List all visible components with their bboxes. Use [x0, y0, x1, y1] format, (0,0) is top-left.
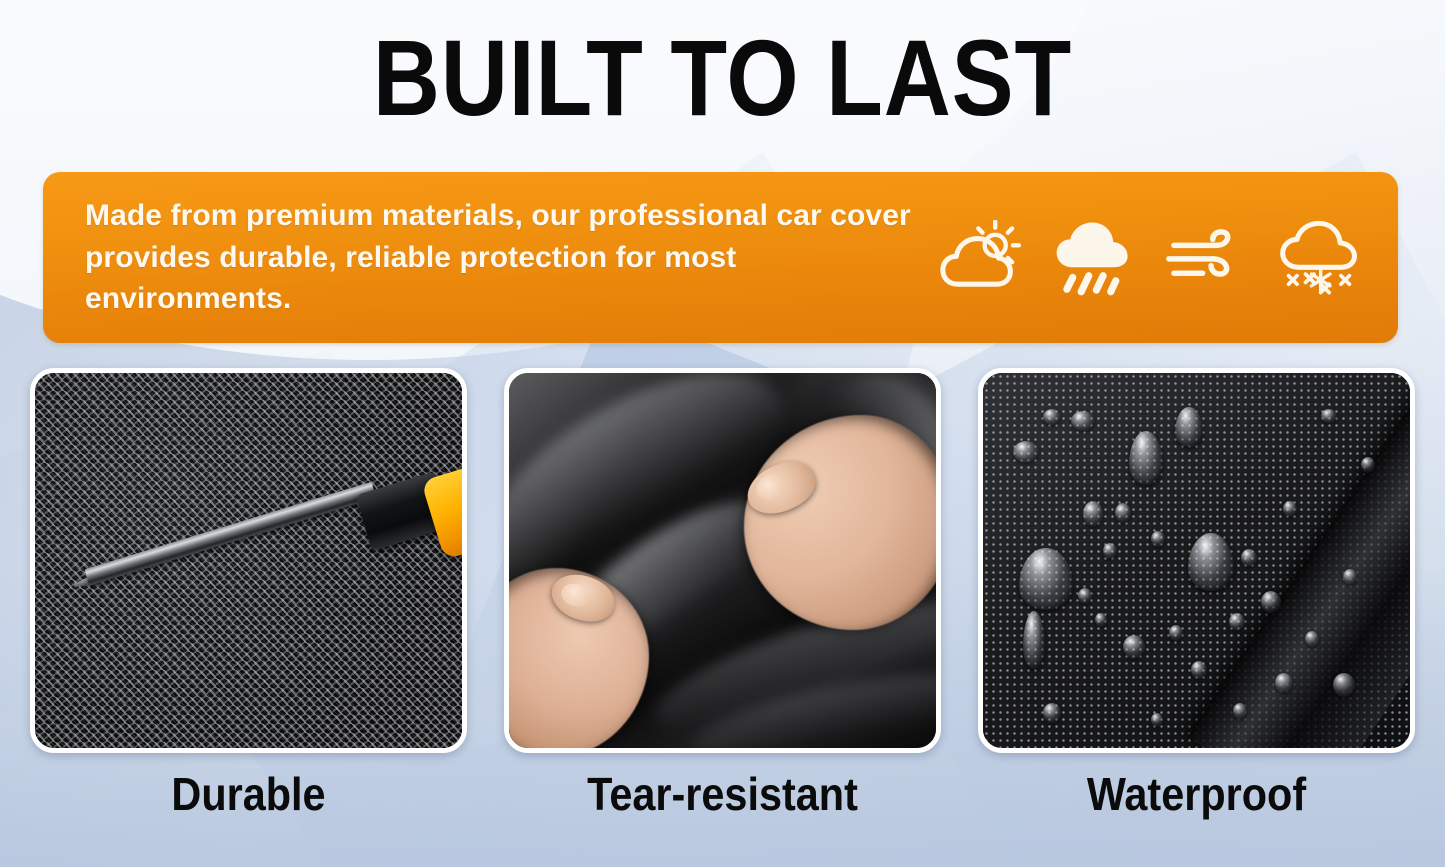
description-banner: Made from premium materials, our profess… [43, 172, 1398, 343]
water-droplet [1043, 703, 1061, 723]
infographic-root: BUILT TO LAST Made from premium material… [0, 0, 1445, 867]
water-droplet [1151, 713, 1163, 727]
water-droplet [1229, 613, 1245, 631]
woven-fabric-texture [35, 373, 462, 748]
hands-stretching-fabric-photo [504, 368, 941, 753]
feature-card-waterproof: Waterproof [978, 368, 1415, 818]
fabric-screwdriver-photo [30, 368, 467, 753]
water-beading-fabric-photo [978, 368, 1415, 753]
water-droplet [1261, 591, 1281, 613]
water-droplet [1333, 673, 1355, 697]
feature-card-row: Durable Tear-resistant [0, 368, 1445, 818]
water-droplet [1103, 543, 1117, 559]
water-droplet [1191, 661, 1207, 679]
water-droplet [1151, 531, 1165, 547]
feature-caption: Tear-resistant [526, 770, 919, 818]
water-droplet [1071, 411, 1095, 431]
water-droplet [1078, 588, 1092, 604]
water-droplet [1321, 409, 1337, 423]
water-droplet [1123, 635, 1145, 659]
rain-cloud-icon [1050, 220, 1136, 296]
feature-card-durable: Durable [30, 368, 467, 818]
water-droplet [1343, 569, 1357, 585]
wind-icon [1163, 220, 1249, 296]
water-droplet [1043, 409, 1061, 425]
weather-icon-group [923, 172, 1398, 343]
water-droplet [1233, 703, 1247, 719]
water-droplet [1275, 673, 1293, 693]
water-droplet [1115, 503, 1131, 523]
sun-behind-cloud-icon [937, 220, 1023, 296]
snow-cloud-icon [1276, 220, 1362, 296]
page-title: BUILT TO LAST [101, 24, 1344, 132]
water-droplet [1361, 457, 1375, 473]
feature-caption: Waterproof [1000, 770, 1393, 818]
water-droplet [1283, 501, 1297, 517]
water-droplet [1095, 613, 1107, 627]
water-droplet [1083, 501, 1103, 527]
feature-card-tear-resistant: Tear-resistant [504, 368, 941, 818]
banner-description-text: Made from premium materials, our profess… [43, 195, 923, 319]
water-droplet [1169, 625, 1183, 641]
water-droplet [1241, 549, 1257, 567]
water-droplet [1305, 631, 1319, 647]
feature-caption: Durable [52, 770, 445, 818]
water-droplet [1013, 441, 1039, 463]
